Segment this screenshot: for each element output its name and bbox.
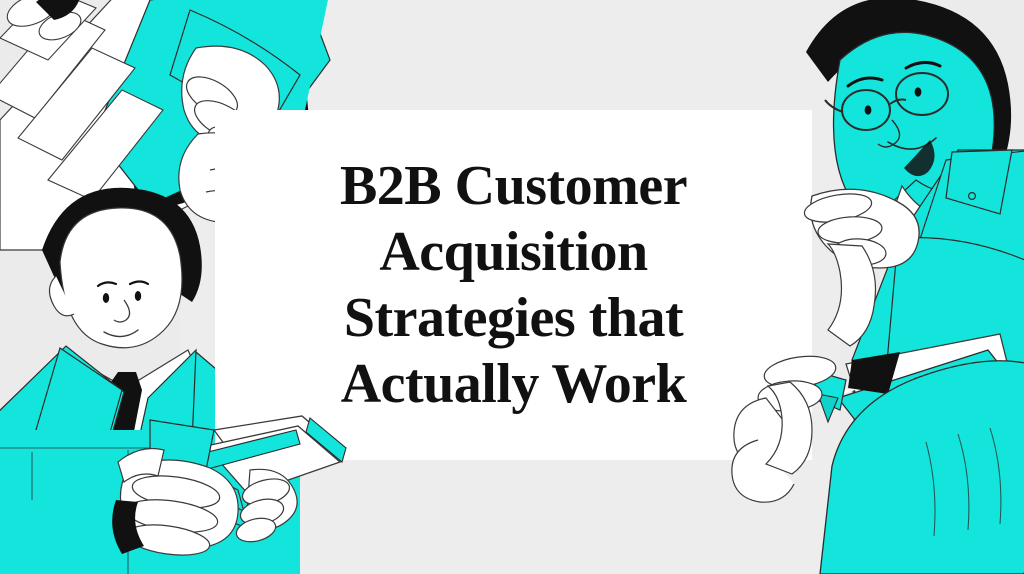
right-figure-hand — [802, 189, 919, 346]
illustration-foreground-layer — [0, 0, 1024, 574]
bottom-left-book — [112, 416, 346, 560]
briefcase — [732, 334, 1024, 574]
title-card-illustration: B2B Customer Acquisition Strategies that… — [0, 0, 1024, 574]
